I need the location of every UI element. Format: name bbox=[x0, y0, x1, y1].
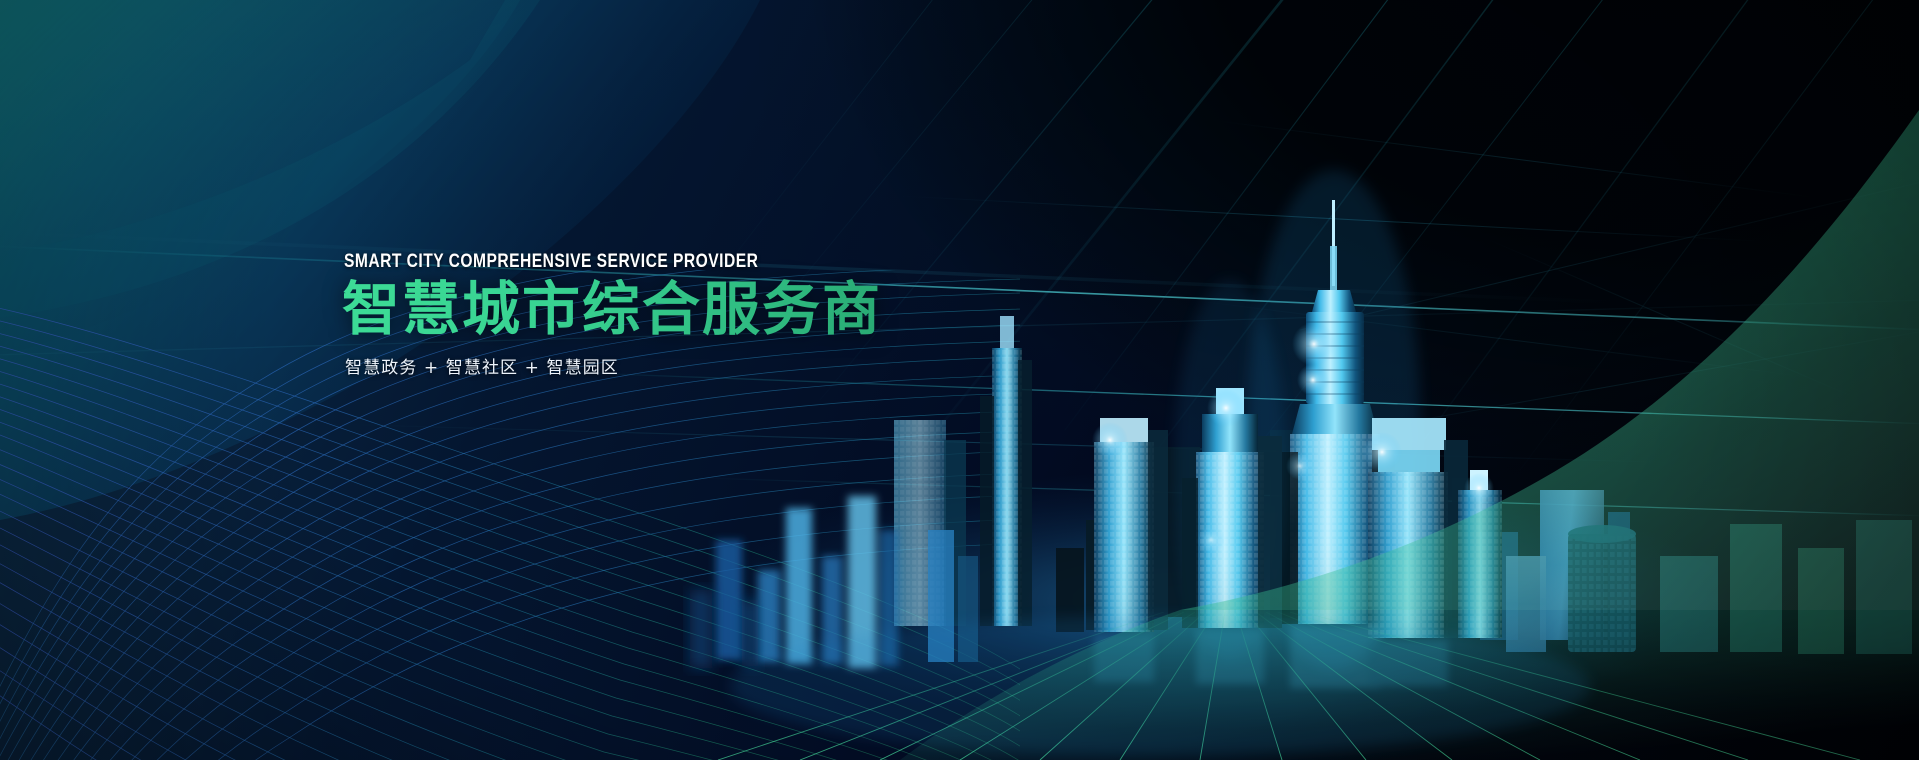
page-title: 智慧城市综合服务商 bbox=[342, 279, 982, 340]
eyebrow-text: SMART CITY COMPREHENSIVE SERVICE PROVIDE… bbox=[344, 250, 854, 273]
headline-copy-block: SMART CITY COMPREHENSIVE SERVICE PROVIDE… bbox=[342, 250, 982, 378]
green-corner-wedge bbox=[0, 0, 1919, 760]
smart-city-banner: SMART CITY COMPREHENSIVE SERVICE PROVIDE… bbox=[0, 0, 1919, 760]
subtitle-text: 智慧政务 + 智慧社区 + 智慧园区 bbox=[345, 353, 982, 378]
